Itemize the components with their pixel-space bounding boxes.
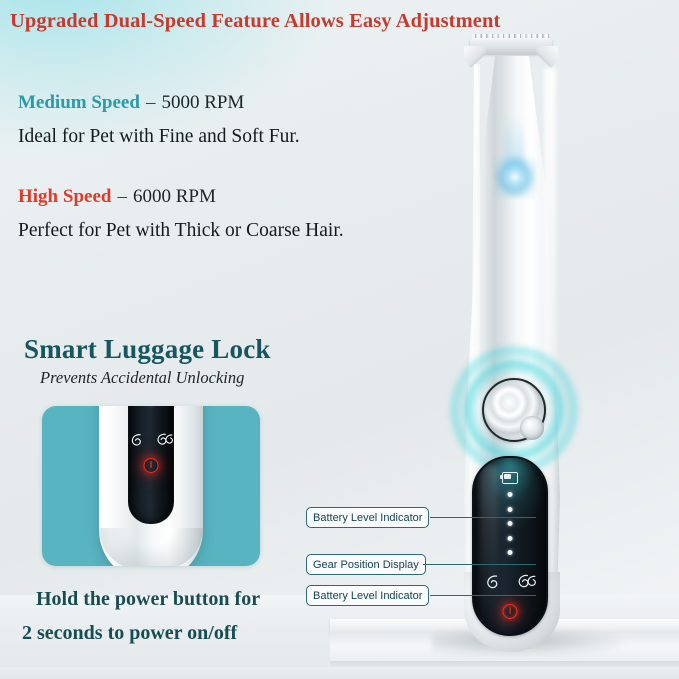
medium-speed-description: Ideal for Pet with Fine and Soft Fur. — [18, 126, 300, 148]
page-title: Upgraded Dual-Speed Feature Allows Easy … — [10, 10, 460, 33]
battery-dot — [508, 536, 513, 541]
medium-speed-label: Medium Speed — [18, 92, 140, 113]
luggage-lock-button-group[interactable] — [466, 362, 562, 458]
device-closeup-inset — [42, 406, 260, 566]
lock-section-title: Smart Luggage Lock — [24, 334, 271, 365]
battery-dot — [508, 492, 513, 497]
lock-section-subtitle: Prevents Accidental Unlocking — [40, 368, 244, 388]
power-instruction-line-2: 2 seconds to power on/off — [22, 622, 237, 645]
callout-leader-line — [423, 564, 536, 565]
callout-battery-level-indicator-bottom[interactable]: Battery Level Indicator — [306, 585, 536, 606]
high-speed-value: 6000 RPM — [133, 186, 216, 207]
blue-led-glow — [494, 156, 536, 198]
product-infographic: Upgraded Dual-Speed Feature Allows Easy … — [0, 0, 679, 679]
lock-button[interactable] — [482, 378, 546, 442]
callout-battery-level-indicator-top[interactable]: Battery Level Indicator — [306, 507, 536, 528]
medium-speed-value: 5000 RPM — [161, 92, 244, 113]
power-button-indicator[interactable] — [503, 604, 518, 619]
medium-speed-line: Medium Speed–5000 RPM — [18, 92, 244, 114]
callout-label: Battery Level Indicator — [306, 585, 429, 606]
high-speed-label: High Speed — [18, 186, 111, 207]
power-instruction-line-1: Hold the power button for — [36, 588, 260, 611]
callout-label: Battery Level Indicator — [306, 507, 429, 528]
callout-leader-line — [430, 517, 536, 518]
lock-button-center — [520, 416, 544, 440]
inset-power-button-indicator — [144, 458, 159, 473]
inset-device-tip-shading — [99, 528, 203, 566]
callout-label: Gear Position Display — [306, 554, 426, 575]
double-leaf-gear-icon — [157, 432, 173, 448]
inset-device-body — [99, 406, 203, 566]
callout-leader-line — [430, 595, 536, 596]
inset-gear-position-display — [129, 432, 173, 448]
single-leaf-gear-icon — [129, 432, 145, 448]
floor-foreground — [0, 667, 679, 679]
high-speed-description: Perfect for Pet with Thick or Coarse Hai… — [18, 220, 344, 242]
high-speed-dash: – — [111, 186, 133, 207]
high-speed-line: High Speed–6000 RPM — [18, 186, 216, 208]
callout-gear-position-display[interactable]: Gear Position Display — [306, 554, 536, 575]
inset-control-panel — [128, 406, 174, 524]
device-control-panel[interactable] — [472, 456, 548, 636]
blade-shoulder-right — [536, 46, 558, 68]
medium-speed-dash: – — [140, 92, 162, 113]
battery-icon — [502, 472, 518, 484]
